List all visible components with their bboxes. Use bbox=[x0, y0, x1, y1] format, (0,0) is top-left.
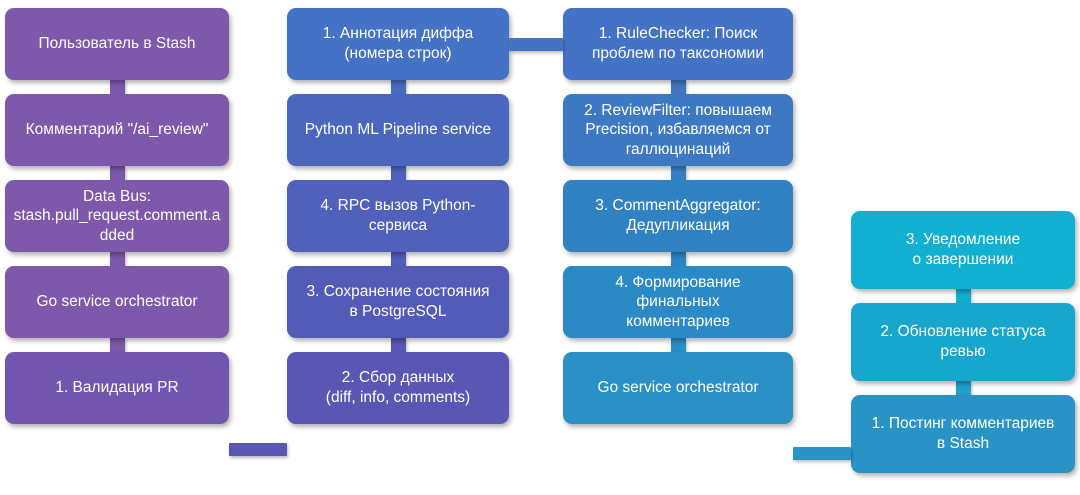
node-rulechecker[interactable]: 1. RuleChecker: Поиск проблем по таксоно… bbox=[563, 8, 793, 80]
node-review-status-update-label: 2. Обновление статуса ревью bbox=[858, 322, 1068, 361]
node-post-comments-stash[interactable]: 1. Постинг комментариев в Stash bbox=[851, 395, 1075, 473]
connector-stub-vertical bbox=[671, 166, 686, 180]
node-python-ml-pipeline-label: Python ML Pipeline service bbox=[294, 120, 502, 140]
node-go-service-orchestrator[interactable]: Go service orchestrator bbox=[5, 266, 229, 338]
node-diff-annotation[interactable]: 1. Аннотация диффа (номера строк) bbox=[287, 8, 509, 80]
node-save-state-postgres[interactable]: 3. Сохранение состояния в PostgreSQL bbox=[287, 266, 509, 338]
node-rpc-call-python-label: 4. RPC вызов Python- сервиса bbox=[294, 196, 502, 235]
node-collect-data[interactable]: 2. Сбор данных (diff, info, comments) bbox=[287, 352, 509, 424]
connector-col3-to-col4 bbox=[793, 447, 851, 460]
node-data-bus[interactable]: Data Bus: stash.pull_request.comment.add… bbox=[5, 180, 229, 252]
node-pr-validation[interactable]: 1. Валидация PR bbox=[5, 352, 229, 424]
node-user-in-stash-label: Пользователь в Stash bbox=[12, 34, 222, 54]
connector-stub-vertical bbox=[391, 338, 406, 352]
node-rulechecker-label: 1. RuleChecker: Поиск проблем по таксоно… bbox=[570, 24, 786, 63]
node-rpc-call-python[interactable]: 4. RPC вызов Python- сервиса bbox=[287, 180, 509, 252]
node-comment-aggregator[interactable]: 3. CommentAggregator: Дедупликация bbox=[563, 180, 793, 252]
connector-stub-vertical bbox=[391, 252, 406, 266]
node-go-service-orchestrator-label: Go service orchestrator bbox=[12, 292, 222, 312]
node-collect-data-label: 2. Сбор данных (diff, info, comments) bbox=[294, 368, 502, 407]
connector-stub-vertical bbox=[391, 166, 406, 180]
node-final-comments-label: 4. Формирование финальных комментариев bbox=[570, 273, 786, 332]
node-comment-aggregator-label: 3. CommentAggregator: Дедупликация bbox=[570, 196, 786, 235]
node-comment-ai-review[interactable]: Комментарий "/ai_review" bbox=[5, 94, 229, 166]
connector-stub-vertical bbox=[671, 80, 686, 94]
connector-stub-vertical bbox=[956, 381, 971, 395]
connector-stub-vertical bbox=[391, 80, 406, 94]
node-reviewfilter[interactable]: 2. ReviewFilter: повышаем Precision, изб… bbox=[563, 94, 793, 166]
node-user-in-stash[interactable]: Пользователь в Stash bbox=[5, 8, 229, 80]
node-go-service-orchestrator-2-label: Go service orchestrator bbox=[570, 378, 786, 398]
connector-stub-vertical bbox=[110, 80, 125, 94]
node-review-status-update[interactable]: 2. Обновление статуса ревью bbox=[851, 303, 1075, 381]
node-final-comments[interactable]: 4. Формирование финальных комментариев bbox=[563, 266, 793, 338]
connector-col1-to-col2 bbox=[229, 443, 287, 456]
node-comment-ai-review-label: Комментарий "/ai_review" bbox=[12, 120, 222, 140]
node-pr-validation-label: 1. Валидация PR bbox=[12, 378, 222, 398]
connector-stub-vertical bbox=[110, 166, 125, 180]
connector-col2-to-col3 bbox=[509, 38, 563, 51]
node-completion-notification-label: 3. Уведомление о завершении bbox=[858, 230, 1068, 269]
node-save-state-postgres-label: 3. Сохранение состояния в PostgreSQL bbox=[294, 282, 502, 321]
connector-stub-vertical bbox=[956, 289, 971, 303]
diagram-canvas: Пользователь в Stash Комментарий "/ai_re… bbox=[0, 0, 1080, 495]
node-post-comments-stash-label: 1. Постинг комментариев в Stash bbox=[858, 414, 1068, 453]
node-data-bus-label: Data Bus: stash.pull_request.comment.add… bbox=[12, 187, 222, 246]
connector-stub-vertical bbox=[671, 338, 686, 352]
stash-trigger-column: Пользователь в Stash Комментарий "/ai_re… bbox=[5, 0, 229, 495]
publishing-column: 3. Уведомление о завершении 2. Обновлени… bbox=[851, 0, 1075, 495]
node-python-ml-pipeline[interactable]: Python ML Pipeline service bbox=[287, 94, 509, 166]
connector-stub-vertical bbox=[110, 338, 125, 352]
connector-stub-vertical bbox=[110, 252, 125, 266]
node-completion-notification[interactable]: 3. Уведомление о завершении bbox=[851, 211, 1075, 289]
node-reviewfilter-label: 2. ReviewFilter: повышаем Precision, изб… bbox=[570, 101, 786, 160]
data-collection-column: 1. Аннотация диффа (номера строк) Python… bbox=[287, 0, 509, 495]
connector-stub-vertical bbox=[671, 252, 686, 266]
node-go-service-orchestrator-2[interactable]: Go service orchestrator bbox=[563, 352, 793, 424]
ml-processing-column: 1. RuleChecker: Поиск проблем по таксоно… bbox=[563, 0, 793, 495]
node-diff-annotation-label: 1. Аннотация диффа (номера строк) bbox=[294, 24, 502, 63]
